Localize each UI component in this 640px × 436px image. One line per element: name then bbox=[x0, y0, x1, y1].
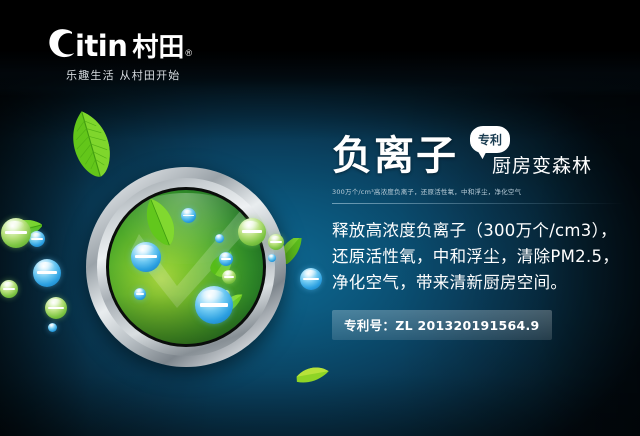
bubble-highlight bbox=[183, 210, 192, 214]
bubble-highlight bbox=[136, 289, 143, 292]
ion-bubble-green bbox=[238, 218, 266, 246]
bubble-highlight bbox=[6, 221, 24, 229]
bubble-highlight bbox=[32, 233, 42, 237]
brand-tagline: 乐趣生活 从村田开始 bbox=[66, 67, 248, 83]
ion-bubble-blue bbox=[181, 208, 196, 223]
patent-number-badge: 专利号：ZL 201320191564.9 bbox=[332, 310, 552, 340]
ion-bubble-blue bbox=[215, 234, 224, 243]
body-line: 净化空气，带来清新厨房空间。 bbox=[332, 270, 632, 296]
ion-bubble-blue bbox=[268, 254, 276, 262]
bubble-highlight bbox=[201, 290, 224, 301]
bubble-highlight bbox=[269, 255, 274, 257]
brand-logo: itin 村田 ® 乐趣生活 从村田开始 bbox=[48, 28, 248, 83]
ion-bubble-green bbox=[0, 280, 18, 298]
minus-sign-icon bbox=[5, 231, 27, 234]
micro-description: 300万个/cm³高浓度负离子，还原活性氧，中和浮尘，净化空气 bbox=[332, 186, 632, 196]
ion-bubble-green bbox=[222, 270, 236, 284]
bubble-highlight bbox=[49, 324, 54, 327]
minus-sign-icon bbox=[37, 271, 57, 274]
ion-bubble-blue bbox=[33, 259, 61, 287]
negative-ion-sphere bbox=[86, 167, 286, 367]
bubble-highlight bbox=[216, 235, 221, 238]
hero-copy: 负离子 厨房变森林 专利 300万个/cm³高浓度负离子，还原活性氧，中和浮尘，… bbox=[332, 132, 632, 340]
promo-poster: itin 村田 ® 乐趣生活 从村田开始 bbox=[0, 0, 640, 436]
bubble-highlight bbox=[221, 253, 229, 257]
bubble-highlight bbox=[271, 236, 281, 240]
headline-row: 负离子 厨房变森林 专利 bbox=[332, 132, 632, 182]
patent-badge: 专利 bbox=[470, 126, 510, 153]
ion-bubble-blue bbox=[29, 231, 45, 247]
green-sphere bbox=[109, 190, 263, 344]
headline-subtitle: 厨房变森林 bbox=[492, 154, 592, 178]
divider bbox=[332, 203, 624, 204]
ion-bubble-blue bbox=[134, 288, 146, 300]
ion-bubble-blue bbox=[131, 242, 161, 272]
ion-bubble-green bbox=[268, 234, 284, 250]
minus-sign-icon bbox=[3, 288, 16, 290]
bubble-highlight bbox=[304, 270, 317, 276]
minus-sign-icon bbox=[135, 255, 157, 258]
ion-bubble-blue bbox=[300, 268, 322, 290]
minus-sign-icon bbox=[31, 238, 43, 240]
logo-latin-text: itin bbox=[75, 31, 127, 61]
ion-bubble-blue bbox=[48, 323, 57, 332]
minus-sign-icon bbox=[136, 293, 145, 294]
leaf-float-bottom bbox=[296, 364, 330, 391]
ion-bubble-green bbox=[1, 218, 31, 248]
bubble-highlight bbox=[3, 282, 14, 287]
minus-sign-icon bbox=[48, 307, 64, 309]
body-copy: 释放高浓度负离子（300万个/cm3）， 还原活性氧，中和浮尘，清除PM2.5，… bbox=[332, 218, 632, 296]
bubble-highlight bbox=[242, 221, 259, 229]
bubble-highlight bbox=[49, 299, 62, 305]
body-line: 释放高浓度负离子（300万个/cm3）， bbox=[332, 218, 632, 244]
minus-sign-icon bbox=[183, 215, 194, 217]
page-title: 负离子 bbox=[332, 134, 458, 178]
minus-sign-icon bbox=[242, 230, 262, 233]
trademark-symbol: ® bbox=[185, 48, 192, 58]
logo-cjk-text: 村田 bbox=[132, 33, 184, 63]
bubble-highlight bbox=[224, 271, 232, 275]
ion-bubble-green bbox=[45, 297, 67, 319]
ion-bubble-blue bbox=[219, 252, 233, 266]
minus-sign-icon bbox=[224, 276, 234, 278]
c-crescent-icon bbox=[48, 28, 74, 56]
bubble-highlight bbox=[37, 262, 54, 270]
ion-bubble-blue bbox=[195, 286, 233, 324]
minus-sign-icon bbox=[200, 303, 227, 307]
bubble-highlight bbox=[136, 245, 154, 253]
minus-sign-icon bbox=[303, 278, 319, 280]
minus-sign-icon bbox=[270, 241, 282, 243]
body-line: 还原活性氧，中和浮尘，清除PM2.5， bbox=[332, 244, 632, 270]
minus-sign-icon bbox=[221, 258, 231, 260]
logo-lockup: itin 村田 ® bbox=[48, 28, 248, 62]
